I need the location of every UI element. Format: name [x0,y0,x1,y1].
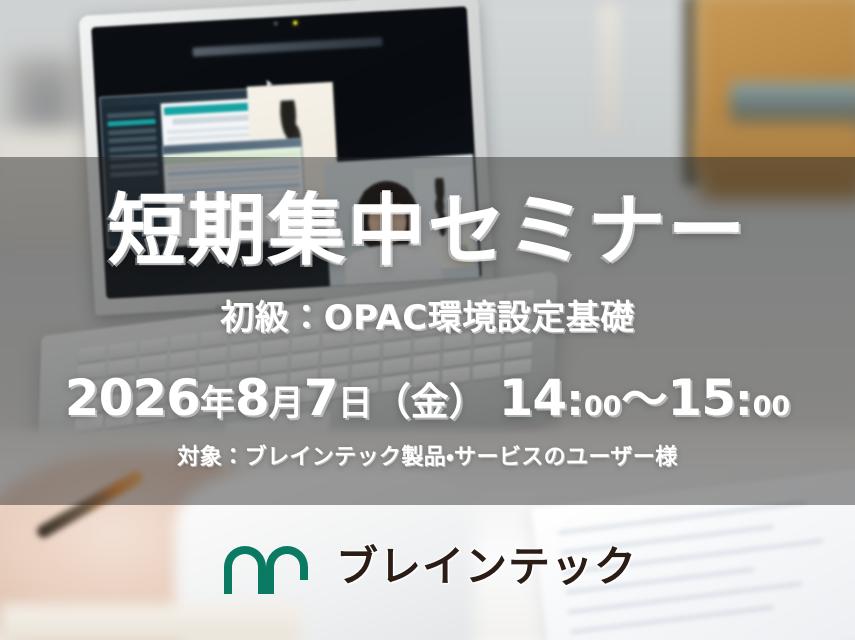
time-end-hour: 15 [667,369,735,427]
seminar-datetime: 2026年8月7日（金）14:00〜15:00 [0,373,855,423]
date-year-unit: 年 [200,384,235,424]
seminar-banner: 9 [0,0,855,640]
company-logo-text: ブレインテック [336,546,637,588]
time-end-colon: : [735,375,753,426]
brain-tech-logo-mark [218,540,322,594]
time-end-minute: 00 [753,391,791,422]
date-month: 8 [235,369,269,427]
seminar-audience: 対象：ブレインテック製品・サービスのユーザー様 [0,447,855,469]
time-start-colon: : [566,375,584,426]
company-logo: ブレインテック [0,540,855,594]
seminar-subtitle: 初級：OPAC環境設定基礎 [0,301,855,335]
time-start-hour: 14 [499,369,567,427]
seminar-title: 短期集中セミナー [0,192,855,270]
date-year: 2026 [65,369,200,427]
date-day: 7 [304,369,338,427]
time-separator: 〜 [621,372,667,426]
date-weekday: （金） [373,380,487,424]
banner-content: 短期集中セミナー 初級：OPAC環境設定基礎 2026年8月7日（金）14:00… [0,0,855,640]
time-start-minute: 00 [584,391,622,422]
date-month-unit: 月 [269,384,304,424]
date-day-unit: 日 [338,384,373,424]
